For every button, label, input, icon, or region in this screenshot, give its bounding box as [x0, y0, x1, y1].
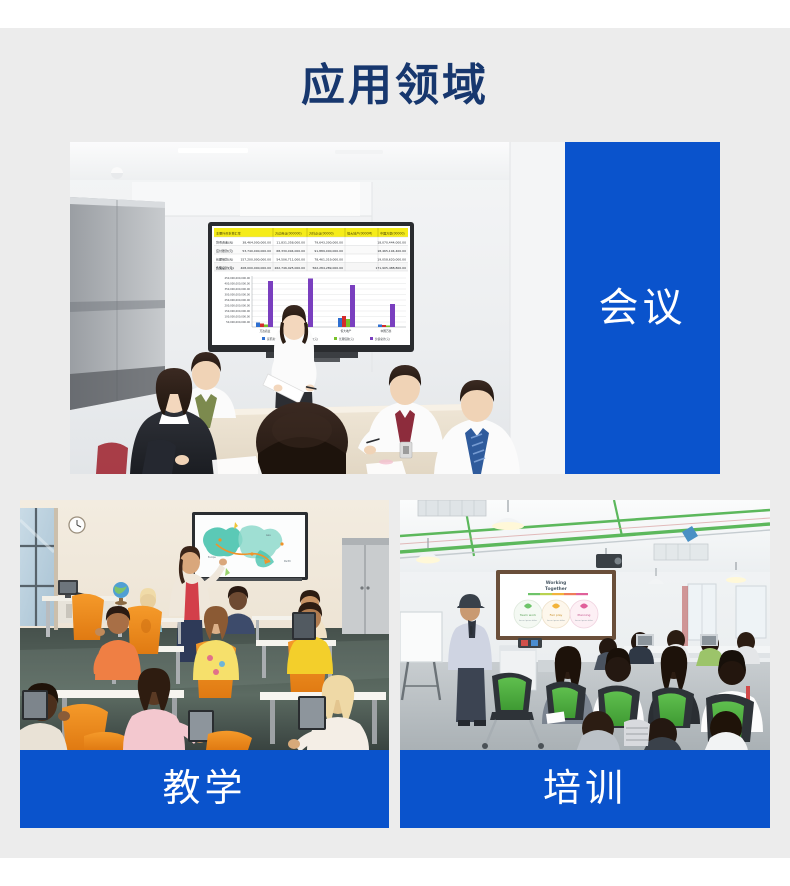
scenario-card-meeting[interactable]: 主要外币折算汇率 万达商业(000000) 万科企业(00000) 恒大地产(0…: [70, 142, 720, 474]
training-photo: Working Together: [400, 500, 770, 750]
svg-text:万科企业(00000): 万科企业(00000): [309, 230, 334, 235]
svg-text:负债总计(元): 负债总计(元): [216, 265, 234, 270]
svg-text:lorem ipsum dolor: lorem ipsum dolor: [519, 619, 537, 622]
teaching-label-bar: 教学: [20, 750, 389, 828]
svg-text:恒大地产(0000M): 恒大地产(0000M): [347, 230, 372, 235]
svg-text:万达商业(000000): 万达商业(000000): [275, 230, 302, 235]
teaching-label: 教学: [162, 770, 246, 808]
svg-text:恒大地产: 恒大地产: [341, 329, 352, 333]
scenario-card-teaching[interactable]: Asia Europe Pacific: [20, 500, 389, 828]
svg-text:18,070,444,000.00: 18,070,444,000.00: [377, 240, 406, 244]
svg-text:450,000,000,000.00: 450,000,000,000.00: [225, 276, 251, 280]
svg-text:lorem ipsum dolor: lorem ipsum dolor: [547, 619, 565, 622]
svg-text:91,889,000,000.00: 91,889,000,000.00: [314, 249, 343, 253]
svg-text:408,000,000,000.00: 408,000,000,000.00: [240, 266, 271, 270]
svg-text:150,000,000,000.00: 150,000,000,000.00: [225, 309, 251, 313]
svg-text:万达商业: 万达商业: [260, 329, 271, 333]
svg-text:中国万豪(00000): 中国万豪(00000): [380, 230, 405, 235]
page-title: 应用领域: [0, 58, 790, 114]
svg-text:53,740,000,000.00: 53,740,000,000.00: [242, 249, 271, 253]
svg-text:250,000,000,000.00: 250,000,000,000.00: [225, 298, 251, 302]
svg-text:400,000,000,000.00: 400,000,000,000.00: [225, 282, 251, 286]
svg-text:货币资金(元): 货币资金(元): [216, 239, 233, 244]
svg-text:38,464,000,000.00: 38,464,000,000.00: [242, 240, 271, 244]
svg-text:300,000,000,000.00: 300,000,000,000.00: [225, 293, 251, 297]
meeting-label: 会议: [599, 288, 687, 328]
svg-text:负债总计(元): 负债总计(元): [375, 337, 390, 341]
svg-text:主要外币折算汇率: 主要外币折算汇率: [216, 230, 241, 235]
scenario-card-training[interactable]: Working Together: [400, 500, 770, 828]
svg-text:11,831,358,000.00: 11,831,358,000.00: [276, 240, 305, 244]
svg-text:Team work: Team work: [519, 613, 536, 617]
svg-text:350,000,000,000.00: 350,000,000,000.00: [225, 287, 251, 291]
svg-text:157,200,000,000.00: 157,200,000,000.00: [240, 257, 271, 261]
svg-text:262,746,925,000.00: 262,746,925,000.00: [274, 266, 305, 270]
svg-text:50,000,000,000.00: 50,000,000,000.00: [226, 320, 250, 324]
svg-text:Fair play: Fair play: [550, 613, 563, 617]
meeting-label-panel: 会议: [565, 142, 720, 474]
svg-text:200,000,000,000.00: 200,000,000,000.00: [225, 304, 251, 308]
svg-text:Planning: Planning: [578, 613, 591, 617]
svg-text:Working: Working: [546, 580, 567, 586]
meeting-photo: 主要外币折算汇率 万达商业(000000) 万科企业(00000) 恒大地产(0…: [70, 142, 565, 474]
classroom-scene: Asia Europe Pacific: [20, 500, 389, 750]
training-label-bar: 培训: [400, 750, 770, 828]
svg-text:长期借款(元): 长期借款(元): [216, 256, 233, 261]
svg-text:78,461,319,000.00: 78,461,319,000.00: [314, 257, 343, 261]
svg-text:Pacific: Pacific: [284, 560, 292, 563]
svg-text:171,905,488,800.00: 171,905,488,800.00: [375, 266, 406, 270]
application-scenarios-page: 应用领域: [0, 0, 790, 886]
svg-text:19,058,620,000.00: 19,058,620,000.00: [377, 257, 406, 261]
training-room-scene: Working Together: [400, 500, 770, 750]
svg-text:54,506,711,000.00: 54,506,711,000.00: [276, 257, 305, 261]
svg-text:18,465,194,400.00: 18,465,194,400.00: [377, 249, 406, 253]
svg-text:79,643,300,000.00: 79,643,300,000.00: [314, 240, 343, 244]
training-label: 培训: [543, 770, 627, 808]
teaching-photo: Asia Europe Pacific: [20, 500, 389, 750]
svg-text:Together: Together: [545, 586, 568, 592]
svg-text:100,000,000,000.00: 100,000,000,000.00: [225, 315, 251, 319]
svg-text:68,330,094,000.00: 68,330,094,000.00: [276, 249, 305, 253]
svg-text:Asia: Asia: [266, 534, 271, 537]
svg-text:lorem ipsum dolor: lorem ipsum dolor: [575, 619, 593, 622]
svg-text:应付账款(元): 应付账款(元): [216, 248, 233, 253]
svg-text:562,284,289,000.00: 562,284,289,000.00: [312, 266, 343, 270]
svg-text:长期借款(元): 长期借款(元): [339, 337, 354, 341]
svg-text:Europe: Europe: [208, 556, 216, 559]
conference-room-scene: 主要外币折算汇率 万达商业(000000) 万科企业(00000) 恒大地产(0…: [70, 142, 565, 474]
svg-text:中国万豪: 中国万豪: [381, 329, 392, 333]
